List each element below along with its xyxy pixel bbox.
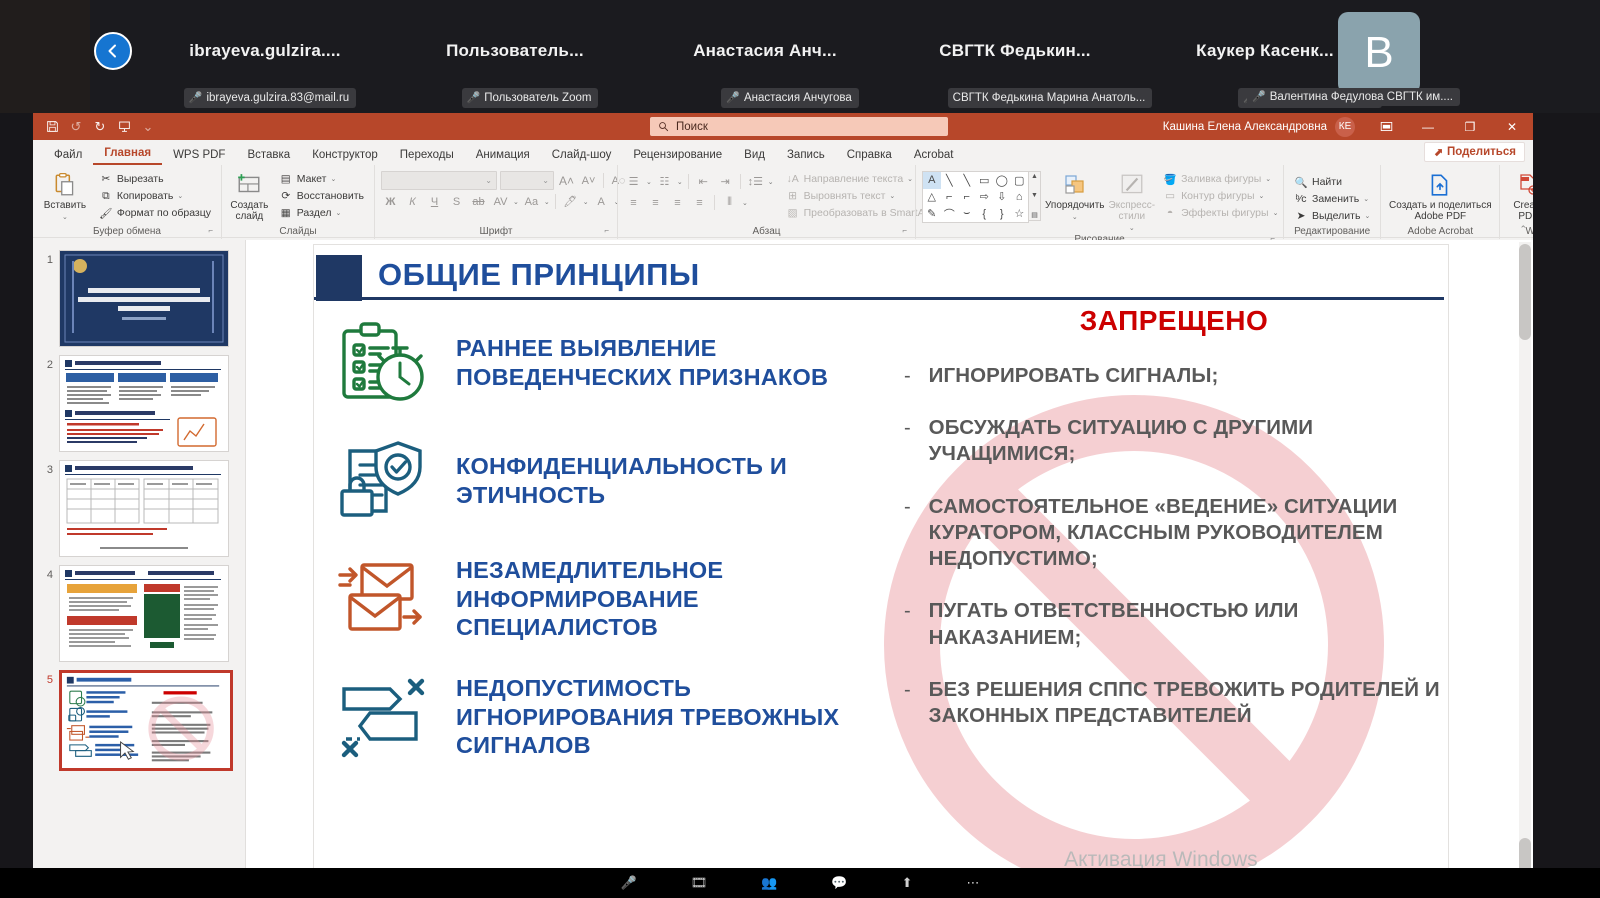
new-slide-label: Создать слайд — [228, 200, 271, 222]
select-label: Выделить — [1312, 210, 1360, 222]
window-controls-area: Кашина Елена Александровна КЕ — ❐ ✕ — [1163, 113, 1533, 140]
text-direction-icon: ↓A — [786, 172, 800, 186]
find-button[interactable]: 🔍Найти — [1290, 174, 1374, 190]
shape-outline-label: Контур фигуры — [1181, 190, 1254, 202]
tab-acrobat[interactable]: Acrobat — [903, 146, 965, 165]
chevron-down-icon[interactable]: ⌄ — [330, 175, 336, 183]
slide-thumbnail-pane[interactable]: 1 — [33, 240, 246, 868]
dialog-launcher-icon[interactable]: ⌐ — [208, 226, 213, 235]
forbidden-item: - ИГНОРИРОВАТЬ СИГНАЛЫ; — [904, 363, 1444, 389]
slide-thumbnail-3[interactable]: 3 — [33, 456, 245, 561]
gallery-expand-icon[interactable]: ▤ — [1031, 211, 1038, 219]
forbidden-item: - САМОСТОЯТЕЛЬНОЕ «ВЕДЕНИЕ» СИТУАЦИИ КУР… — [904, 494, 1444, 573]
collapse-ribbon-icon[interactable]: ⌃ — [1519, 224, 1527, 235]
thumbnail-number: 3 — [37, 460, 53, 476]
participant-tag-label: Пользователь Zoom — [484, 92, 591, 104]
participant-name: ibrayeva.gulzira.... — [140, 36, 390, 68]
numbered-list-button[interactable]: ☷ — [655, 173, 674, 190]
shape-curve-icon[interactable]: ⌒ — [941, 205, 959, 222]
chevron-down-icon[interactable]: ⌄ — [177, 192, 183, 200]
reset-label: Восстановить — [297, 190, 364, 202]
list-dash: - — [904, 677, 911, 729]
find-label: Найти — [1312, 176, 1342, 188]
reset-icon: ⟳ — [279, 189, 293, 203]
increase-font-size-button[interactable]: A˄ — [557, 172, 576, 189]
shape-left-brace-icon[interactable]: { — [976, 205, 994, 222]
shape-outline-icon: ▭ — [1163, 189, 1177, 203]
principle-text: КОНФИДЕНЦИАЛЬНОСТЬ И ЭТИЧНОСТЬ — [456, 452, 892, 509]
line-spacing-button[interactable]: ↕☰ — [746, 173, 765, 190]
create-pdf-icon — [1516, 171, 1533, 199]
forbidden-item-text: ОБСУЖДАТЬ СИТУАЦИЮ С ДРУГИМИ УЧАЩИМИСЯ; — [929, 415, 1444, 467]
list-dash: - — [904, 598, 911, 650]
forbidden-item: - ПУГАТЬ ОТВЕТСТВЕННОСТЬЮ ИЛИ НАКАЗАНИЕМ… — [904, 598, 1444, 650]
columns-button[interactable]: ⦀ — [720, 194, 739, 211]
participant-tag-label: ibrayeva.gulzira.83@mail.ru — [206, 92, 349, 104]
shadow-button[interactable]: S — [447, 193, 466, 210]
restore-button[interactable]: ❐ — [1449, 113, 1491, 140]
chevron-down-icon[interactable]: ⌄ — [335, 209, 341, 217]
envelopes-arrows-icon — [332, 551, 436, 647]
thumbnail-number: 2 — [37, 355, 53, 371]
slide-thumbnail-5[interactable]: 5 — [33, 666, 245, 775]
paragraph-bottom-row: ≡ ≡ ≡ ≡ ⦀⌄ — [624, 194, 774, 211]
search-icon: 🔍 — [1294, 175, 1308, 189]
thumbnail-image — [59, 460, 229, 557]
chevron-down-icon[interactable]: ⌄ — [1273, 209, 1279, 217]
mic-muted-icon: 🎤 — [1252, 90, 1266, 103]
customize-qat-icon[interactable]: ⌄ — [137, 116, 159, 137]
principles-list: РАННЕЕ ВЫЯВЛЕНИЕ ПОВЕДЕНЧЕСКИХ ПРИЗНАКОВ — [332, 315, 892, 787]
chevron-down-icon[interactable]: ⌄ — [1265, 175, 1271, 183]
replace-icon: ᵇ⁄c — [1294, 192, 1308, 206]
ribbon: Вставить ⌄ ✂Вырезать ⧉Копировать⌄ 🖌Форма… — [33, 165, 1533, 238]
account-name: Кашина Елена Александровна — [1163, 121, 1335, 133]
font-bottom-row: Ж К Ч S ab AV⌄ Aa⌄ 🖊⌄ A⌄ — [381, 193, 620, 210]
section-label: Раздел — [297, 207, 332, 219]
thumbnail-number: 4 — [37, 565, 53, 581]
group-label-clipboard: Буфер обмена⌐ — [39, 226, 215, 239]
shape-down-arrow-icon[interactable]: ⇩ — [993, 189, 1011, 206]
share-label: Поделиться — [1447, 146, 1516, 158]
slide-editing-area[interactable]: ОБЩИЕ ПРИНЦИПЫ — [246, 240, 1533, 868]
quick-access-toolbar: ↺ ↻ ⌄ — [33, 116, 159, 137]
group-label-editing: Редактирование — [1290, 226, 1374, 239]
close-button[interactable]: ✕ — [1491, 113, 1533, 140]
group-label-paragraph: Абзац⌐ — [624, 226, 909, 239]
dialog-launcher-icon[interactable]: ⌐ — [902, 226, 907, 235]
shape-effects-button[interactable]: ◓Эффекты фигуры⌄ — [1159, 205, 1282, 221]
forbidden-item-text: САМОСТОЯТЕЛЬНОЕ «ВЕДЕНИЕ» СИТУАЦИИ КУРАТ… — [929, 494, 1444, 573]
arrange-button[interactable]: Упорядочить ⌄ — [1045, 169, 1105, 223]
taskbar-share-icon[interactable]: ⬆ — [902, 875, 913, 891]
group-label-font: Шрифт⌐ — [381, 226, 611, 239]
mic-muted-icon: 🎤 — [467, 91, 481, 104]
strikethrough-button[interactable]: ab — [469, 193, 488, 210]
participant-tag-row: 🎤ibrayeva.gulzira.83@mail.ru 🎤Пользовате… — [140, 88, 1440, 108]
share-icon: ⬈ — [1433, 145, 1443, 159]
participant-name: Пользователь... — [390, 36, 640, 68]
group-label-acrobat: Adobe Acrobat — [1387, 226, 1493, 239]
bold-button[interactable]: Ж — [381, 193, 400, 210]
smartart-icon: ▧ — [786, 206, 800, 220]
create-and-share-label: Создать и поделиться Adobe PDF — [1387, 200, 1493, 222]
tab-konstruktor[interactable]: Конструктор — [301, 146, 389, 165]
ribbon-group-editing: 🔍Найти ᵇ⁄cЗаменить⌄ ➤Выделить⌄ Редактиро… — [1283, 165, 1380, 239]
tab-glavnaya[interactable]: Главная — [93, 144, 162, 165]
chevron-down-icon[interactable]: ⌄ — [1259, 192, 1265, 200]
slide-thumbnail-2[interactable]: 2 — [33, 351, 245, 456]
shapes-gallery[interactable]: A ╲ ╲ ▭ ◯ ▢ △ ⌐ ⌐ ⇨ ⇩ ⌂ ✎ — [922, 171, 1029, 223]
shape-fill-button[interactable]: 🪣Заливка фигуры⌄ — [1159, 171, 1282, 187]
participant-tag: 🎤Пользователь Zoom — [462, 88, 599, 108]
taskbar-mic-icon[interactable]: 🎤 — [621, 875, 637, 891]
principle-item: НЕЗАМЕДЛИТЕЛЬНОЕ ИНФОРМИРОВАНИЕ СПЕЦИАЛИ… — [332, 551, 892, 647]
shape-fill-icon: 🪣 — [1163, 172, 1177, 186]
font-color-button[interactable]: A — [592, 193, 611, 210]
new-slide-button[interactable]: Создать слайд — [228, 169, 271, 222]
list-dash: - — [904, 494, 911, 573]
copy-button[interactable]: ⧉Копировать⌄ — [95, 188, 215, 204]
ribbon-group-wps-pdf: Create PDF Sign WPS PDF — [1499, 165, 1533, 239]
taskbar[interactable]: 🎤 🎞 👥 💬 ⬆ ⋯ — [0, 868, 1600, 898]
group-label-slides: Слайды — [228, 226, 368, 239]
paragraph-top-row: ☰⌄ ☷⌄ ⇤ ⇥ ↕☰⌄ — [624, 173, 774, 190]
chevron-down-icon[interactable]: ⌄ — [62, 212, 68, 223]
taskbar-more-icon[interactable]: ⋯ — [966, 875, 979, 891]
taskbar-chat-icon[interactable]: 💬 — [831, 875, 847, 891]
ribbon-group-clipboard: Вставить ⌄ ✂Вырезать ⧉Копировать⌄ 🖌Форма… — [33, 165, 221, 239]
scroll-down-icon[interactable]: ▼ — [1031, 192, 1038, 199]
copy-label: Копировать — [117, 190, 174, 202]
share-button[interactable]: ⬈ Поделиться — [1424, 142, 1525, 162]
justify-button[interactable]: ≡ — [690, 194, 709, 211]
layout-label: Макет — [297, 173, 327, 185]
section-button[interactable]: ▦Раздел⌄ — [275, 205, 368, 221]
clipboard-stopwatch-icon — [332, 315, 436, 411]
ribbon-display-options-icon[interactable] — [1365, 113, 1407, 140]
brush-icon: 🖌 — [99, 206, 113, 220]
cut-button[interactable]: ✂Вырезать — [95, 171, 215, 187]
participant-tag-label: Валентина Федулова СВГТК им.... — [1270, 91, 1453, 103]
format-painter-button[interactable]: 🖌Формат по образцу — [95, 205, 215, 221]
shield-lock-document-icon — [332, 433, 436, 529]
participant-name-row: ibrayeva.gulzira.... Пользователь... Ана… — [140, 36, 1390, 68]
align-left-button[interactable]: ≡ — [624, 194, 643, 211]
tab-wps-pdf[interactable]: WPS PDF — [162, 146, 236, 165]
shape-arc-icon[interactable]: ⌣ — [958, 205, 976, 222]
chevron-down-icon[interactable]: ⌄ — [677, 178, 683, 186]
paste-icon — [52, 171, 78, 199]
forbidden-item-text: ПУГАТЬ ОТВЕТСТВЕННОСТЬЮ ИЛИ НАКАЗАНИЕМ; — [929, 598, 1444, 650]
select-button[interactable]: ➤Выделить⌄ — [1290, 208, 1374, 224]
chevron-down-icon[interactable]: ⌄ — [1363, 195, 1369, 203]
mic-muted-icon: 🎤 — [726, 91, 740, 104]
forbidden-item-text: БЕЗ РЕШЕНИЯ СППС ТРЕВОЖИТЬ РОДИТЕЛЕЙ И З… — [929, 677, 1444, 729]
principle-text: НЕЗАМЕДЛИТЕЛЬНОЕ ИНФОРМИРОВАНИЕ СПЕЦИАЛИ… — [456, 556, 892, 642]
arrange-label: Упорядочить — [1045, 200, 1105, 211]
reset-button[interactable]: ⟳Восстановить — [275, 188, 368, 204]
present-icon[interactable] — [113, 116, 135, 137]
decrease-indent-button[interactable]: ⇤ — [694, 173, 713, 190]
principle-text: НЕДОПУСТИМОСТЬ ИГНОРИРОВАНИЯ ТРЕВОЖНЫХ С… — [456, 674, 892, 760]
title-bar: ↺ ↻ ⌄ ИТОГ - АЛГОРИТМ - PowerPoint Поиск… — [33, 113, 1533, 140]
minimize-button[interactable]: — — [1407, 113, 1449, 140]
search-input[interactable]: Поиск — [650, 117, 948, 136]
vertical-scrollbar-thumb-lower[interactable] — [1519, 838, 1531, 868]
ribbon-group-acrobat: Создать и поделиться Adobe PDF Adobe Acr… — [1380, 165, 1499, 239]
ribbon-group-slides: Создать слайд ▤Макет⌄ ⟳Восстановить ▦Раз… — [221, 165, 374, 239]
layout-button[interactable]: ▤Макет⌄ — [275, 171, 368, 187]
screen-root: ibrayeva.gulzira.... Пользователь... Ана… — [0, 0, 1600, 898]
participant-tag: СВГТК Федькина Марина Анатоль... — [948, 88, 1153, 108]
create-and-share-adobe-pdf-button[interactable]: Создать и поделиться Adobe PDF — [1387, 169, 1493, 222]
windows-activation-watermark: Активация Windows Чтобы активировать Win… — [1064, 847, 1414, 868]
align-right-button[interactable]: ≡ — [668, 194, 687, 211]
copy-icon: ⧉ — [99, 189, 113, 203]
increase-indent-button[interactable]: ⇥ — [716, 173, 735, 190]
shape-scribble-icon[interactable]: ✎ — [923, 205, 941, 222]
redo-icon[interactable]: ↻ — [89, 116, 111, 137]
undo-icon[interactable]: ↺ — [65, 116, 87, 137]
replace-label: Заменить — [1312, 193, 1359, 205]
ribbon-group-drawing: A ╲ ╲ ▭ ◯ ▢ △ ⌐ ⌐ ⇨ ⇩ ⌂ ✎ — [915, 165, 1283, 239]
chevron-down-icon[interactable]: ⌄ — [1364, 212, 1370, 220]
cut-label: Вырезать — [117, 173, 164, 185]
search-placeholder: Поиск — [676, 121, 708, 133]
shape-effects-icon: ◓ — [1163, 206, 1177, 220]
forbidden-list: ЗАПРЕЩЕНО - ИГНОРИРОВАТЬ СИГНАЛЫ; - ОБСУ… — [904, 305, 1444, 755]
participant-tag: 🎤Анастасия Анчугова — [721, 88, 858, 108]
tab-vstavka[interactable]: Вставка — [236, 146, 301, 165]
taskbar-participants-icon[interactable]: 👥 — [761, 875, 777, 891]
bulleted-list-button[interactable]: ☰ — [624, 173, 643, 190]
save-icon[interactable] — [41, 116, 63, 137]
principle-item: КОНФИДЕНЦИАЛЬНОСТЬ И ЭТИЧНОСТЬ — [332, 433, 892, 529]
shape-rectangle-icon[interactable]: ▭ — [976, 172, 994, 189]
mic-muted-icon: 🎤 — [189, 91, 203, 104]
shape-arrow-icon[interactable]: ╲ — [958, 172, 976, 189]
ribbon-group-font: ⌄ ⌄ A˄ A˅ A◌ Ж К Ч S ab AV⌄ Aa⌄ — [374, 165, 617, 239]
quick-styles-icon — [1119, 171, 1145, 199]
chevron-down-icon[interactable]: ⌄ — [513, 198, 519, 206]
workspace: 1 — [33, 240, 1533, 868]
slide-title-area: ОБЩИЕ ПРИНЦИПЫ — [316, 255, 1446, 301]
shape-elbow-arrow-icon[interactable]: ⌐ — [958, 189, 976, 206]
quick-styles-button[interactable]: Экспресс-стили ⌄ — [1109, 169, 1156, 234]
thumbnail-number: 5 — [37, 670, 53, 686]
shape-rounded-rect-icon[interactable]: ▢ — [1011, 172, 1029, 189]
taskbar-icons: 🎤 🎞 👥 💬 ⬆ ⋯ — [0, 868, 1600, 898]
shape-star-icon[interactable]: ☆ — [1011, 205, 1029, 222]
thumbnail-image — [59, 250, 229, 347]
taskbar-video-icon[interactable]: 🎞 — [691, 875, 708, 891]
vertical-scrollbar-thumb[interactable] — [1519, 244, 1531, 340]
tab-vid[interactable]: Вид — [733, 146, 776, 165]
replace-button[interactable]: ᵇ⁄cЗаменить⌄ — [1290, 191, 1374, 207]
shape-pentagon-icon[interactable]: ⌂ — [1011, 189, 1029, 206]
tab-perehody[interactable]: Переходы — [389, 146, 465, 165]
chevron-down-icon[interactable]: ⌄ — [742, 199, 748, 207]
tab-slide-show[interactable]: Слайд-шоу — [541, 146, 623, 165]
list-dash: - — [904, 363, 911, 389]
shape-effects-label: Эффекты фигуры — [1181, 207, 1269, 219]
scissors-icon: ✂ — [99, 172, 113, 186]
chevron-down-icon[interactable]: ⌄ — [907, 175, 913, 183]
shape-triangle-icon[interactable]: △ — [923, 189, 941, 206]
chevron-down-icon[interactable]: ⌄ — [583, 198, 589, 206]
current-slide[interactable]: ОБЩИЕ ПРИНЦИПЫ — [314, 245, 1448, 868]
layout-icon: ▤ — [279, 172, 293, 186]
shape-right-arrow-icon[interactable]: ⇨ — [976, 189, 994, 206]
smartart-label: Преобразовать в SmartArt — [804, 207, 931, 219]
chevron-down-icon[interactable]: ⌄ — [544, 198, 550, 206]
font-size-select[interactable]: ⌄ — [500, 171, 554, 190]
thumbnail-image — [59, 565, 229, 662]
shape-textbox-icon[interactable]: A — [923, 172, 941, 189]
forbidden-item: - ОБСУЖДАТЬ СИТУАЦИЮ С ДРУГИМИ УЧАЩИМИСЯ… — [904, 415, 1444, 467]
new-slide-icon — [236, 171, 262, 199]
dialog-launcher-icon[interactable]: ⌐ — [604, 226, 609, 235]
paste-label: Вставить — [44, 200, 86, 211]
participant-tag: 🎤ibrayeva.gulzira.83@mail.ru — [184, 88, 356, 108]
font-top-row: ⌄ ⌄ A˄ A˅ A◌ — [381, 171, 628, 190]
adobe-pdf-share-icon — [1427, 171, 1453, 199]
zoom-gallery-strip: ibrayeva.gulzira.... Пользователь... Ана… — [0, 0, 1600, 113]
ribbon-group-paragraph: ☰⌄ ☷⌄ ⇤ ⇥ ↕☰⌄ ≡ ≡ ≡ ≡ — [617, 165, 915, 239]
italic-button[interactable]: К — [403, 193, 422, 210]
list-dash: - — [904, 415, 911, 467]
decrease-font-size-button[interactable]: A˅ — [579, 172, 598, 189]
forbidden-item-text: ИГНОРИРОВАТЬ СИГНАЛЫ; — [929, 363, 1219, 389]
slide-thumbnail-4[interactable]: 4 — [33, 561, 245, 666]
thumbnail-image — [59, 670, 233, 771]
tab-recenzirovanie[interactable]: Рецензирование — [622, 146, 733, 165]
shape-elbow-icon[interactable]: ⌐ — [941, 189, 959, 206]
tab-fail[interactable]: Файл — [43, 146, 93, 165]
shapes-gallery-scroll[interactable]: ▲▼▤ — [1029, 171, 1041, 221]
tab-spravka[interactable]: Справка — [836, 146, 903, 165]
align-text-icon: ⊞ — [786, 189, 800, 203]
text-highlight-color-button[interactable]: 🖊 — [561, 193, 580, 210]
forbidden-title: ЗАПРЕЩЕНО — [904, 305, 1444, 337]
forbidden-item: - БЕЗ РЕШЕНИЯ СППС ТРЕВОЖИТЬ РОДИТЕЛЕЙ И… — [904, 677, 1444, 729]
align-text-label: Выровнять текст — [804, 190, 886, 202]
thumbnail-number: 1 — [37, 250, 53, 266]
title-accent-block — [316, 255, 362, 301]
font-name-select[interactable]: ⌄ — [381, 171, 497, 190]
section-icon: ▦ — [279, 206, 293, 220]
participant-name: Анастасия Анч... — [640, 36, 890, 68]
powerpoint-window: ↺ ↻ ⌄ ИТОГ - АЛГОРИТМ - PowerPoint Поиск… — [33, 113, 1533, 868]
avatar: В — [1338, 12, 1420, 94]
underline-button[interactable]: Ч — [425, 193, 444, 210]
thumbnail-image — [59, 355, 229, 452]
create-pdf-button[interactable]: Create PDF — [1506, 169, 1533, 222]
activation-line-1: Активация Windows — [1064, 847, 1414, 868]
format-painter-label: Формат по образцу — [117, 207, 211, 219]
participant-tag: 🎤 Валентина Федулова СВГТК им.... — [1247, 88, 1460, 106]
tab-animaciya[interactable]: Анимация — [465, 146, 541, 165]
slide-thumbnail-1[interactable]: 1 — [33, 246, 245, 351]
slide-title: ОБЩИЕ ПРИНЦИПЫ — [378, 257, 700, 293]
participant-name: СВГТК Федькин... — [890, 36, 1140, 68]
principle-text: РАННЕЕ ВЫЯВЛЕНИЕ ПОВЕДЕНЧЕСКИХ ПРИЗНАКОВ — [456, 334, 892, 391]
back-arrow-icon[interactable] — [94, 32, 132, 70]
create-pdf-label: Create PDF — [1506, 200, 1533, 222]
search-icon — [658, 121, 669, 132]
scroll-up-icon[interactable]: ▲ — [1031, 173, 1038, 180]
character-spacing-button[interactable]: AV — [491, 193, 510, 210]
chevron-down-icon[interactable]: ⌄ — [1129, 223, 1135, 234]
ribbon-tab-bar: Файл Главная WPS PDF Вставка Конструктор… — [33, 140, 1533, 165]
broken-flow-icon — [332, 669, 436, 765]
shape-outline-button[interactable]: ▭Контур фигуры⌄ — [1159, 188, 1282, 204]
arrange-icon — [1063, 171, 1087, 199]
shape-oval-icon[interactable]: ◯ — [993, 172, 1011, 189]
shape-right-brace-icon[interactable]: } — [993, 205, 1011, 222]
chevron-down-icon[interactable]: ⌄ — [889, 192, 895, 200]
cursor-select-icon: ➤ — [1294, 209, 1308, 223]
chevron-down-icon[interactable]: ⌄ — [646, 178, 652, 186]
align-center-button[interactable]: ≡ — [646, 194, 665, 211]
text-direction-label: Направление текста — [804, 173, 904, 185]
quick-styles-label: Экспресс-стили — [1109, 200, 1156, 222]
zoom-left-panel — [0, 0, 90, 113]
title-divider — [314, 297, 1444, 300]
account-initials-badge[interactable]: КЕ — [1335, 117, 1355, 137]
principle-item: РАННЕЕ ВЫЯВЛЕНИЕ ПОВЕДЕНЧЕСКИХ ПРИЗНАКОВ — [332, 315, 892, 411]
zoom-right-panel — [1450, 0, 1600, 113]
shape-fill-label: Заливка фигуры — [1181, 173, 1261, 185]
principle-item: НЕДОПУСТИМОСТЬ ИГНОРИРОВАНИЯ ТРЕВОЖНЫХ С… — [332, 669, 892, 765]
chevron-down-icon[interactable]: ⌄ — [1072, 212, 1078, 223]
participant-tag-label: СВГТК Федькина Марина Анатоль... — [953, 92, 1146, 104]
chevron-down-icon[interactable]: ⌄ — [768, 178, 774, 186]
change-case-button[interactable]: Aa — [522, 193, 541, 210]
participant-tag-label: Анастасия Анчугова — [744, 92, 852, 104]
paste-button[interactable]: Вставить ⌄ — [39, 169, 91, 223]
shape-line-icon[interactable]: ╲ — [941, 172, 959, 189]
tab-zapis[interactable]: Запись — [776, 146, 836, 165]
